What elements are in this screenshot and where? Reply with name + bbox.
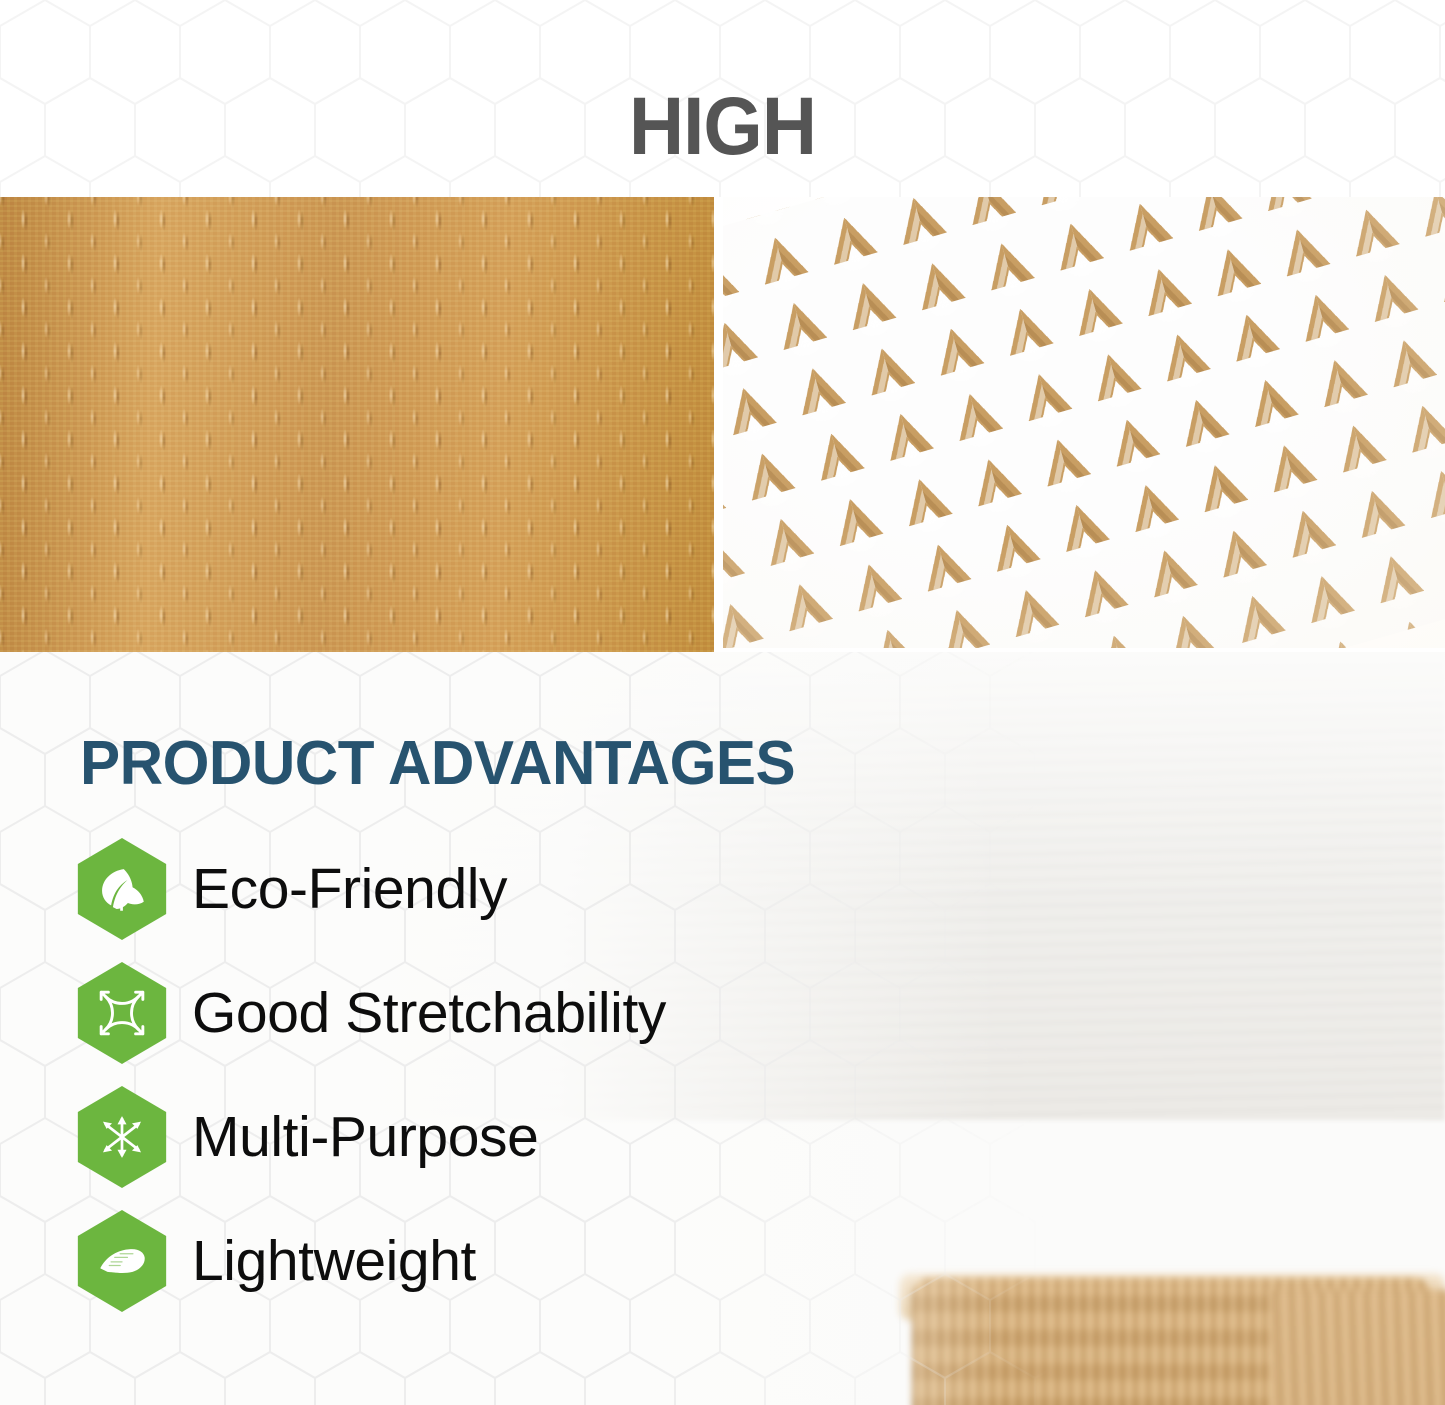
header-band: HIGH STRETCHABILITY bbox=[0, 0, 1445, 197]
leaf-icon bbox=[74, 837, 170, 941]
page-title-line1: HIGH bbox=[51, 87, 1395, 167]
advantages-heading: PRODUCT ADVANTAGES bbox=[80, 728, 795, 799]
advantage-item-lightweight[interactable]: Lightweight bbox=[74, 1199, 974, 1323]
kraft-paper-texture bbox=[0, 197, 714, 652]
advantage-label: Eco-Friendly bbox=[192, 861, 507, 918]
advantage-item-multi-purpose[interactable]: Multi-Purpose bbox=[74, 1075, 974, 1199]
advantages-list: Eco-Friendly bbox=[74, 827, 974, 1323]
advantage-item-eco-friendly[interactable]: Eco-Friendly bbox=[74, 827, 974, 951]
expanded-honeycomb-mesh-image bbox=[723, 197, 1445, 648]
advantage-label: Multi-Purpose bbox=[192, 1109, 538, 1166]
advantages-section: PRODUCT ADVANTAGES Eco-Friendly bbox=[0, 650, 1445, 1405]
advantage-item-good-stretchability[interactable]: Good Stretchability bbox=[74, 951, 974, 1075]
advantages-content: PRODUCT ADVANTAGES Eco-Friendly bbox=[0, 650, 1445, 1405]
advantage-label: Good Stretchability bbox=[192, 985, 666, 1042]
top-image-pair bbox=[0, 197, 1445, 652]
multi-direction-arrows-icon bbox=[74, 1085, 170, 1189]
feather-icon bbox=[74, 1209, 170, 1313]
product-infographic: HIGH STRETCHABILITY bbox=[0, 0, 1445, 1405]
flat-honeycomb-kraft-paper-image bbox=[0, 197, 714, 652]
mesh-vignette bbox=[723, 197, 1445, 648]
page-title: HIGH STRETCHABILITY bbox=[51, 0, 1395, 197]
advantage-label: Lightweight bbox=[192, 1233, 476, 1290]
stretch-arrows-icon bbox=[74, 961, 170, 1065]
